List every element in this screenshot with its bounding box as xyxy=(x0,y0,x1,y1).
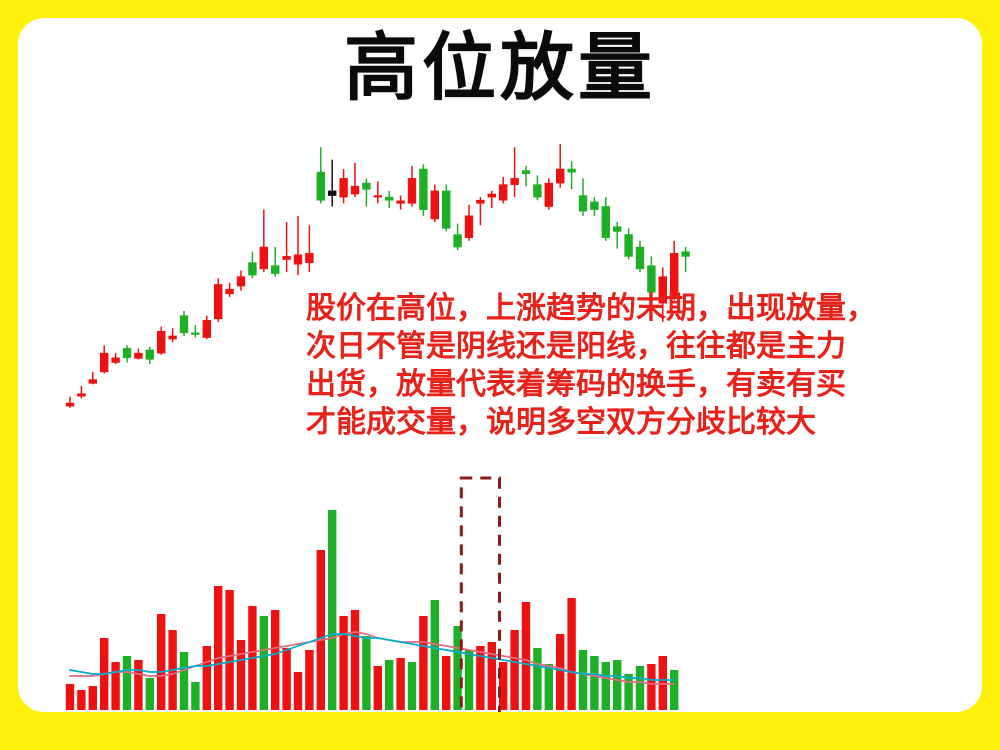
annotation-line-4: 才能成交量，说明多空双方分歧比较大 xyxy=(306,404,954,442)
poster-frame: 高位放量 股价在高位，上涨趋势的末期，出现放量， 次日不管是阴线还是阳线，往往都… xyxy=(0,0,1000,750)
annotation-line-1: 股价在高位，上涨趋势的末期，出现放量， xyxy=(306,290,954,328)
chart-canvas: 高位放量 股价在高位，上涨趋势的末期，出现放量， 次日不管是阴线还是阳线，往往都… xyxy=(18,18,982,712)
annotation-text: 股价在高位，上涨趋势的末期，出现放量， 次日不管是阴线还是阳线，往往都是主力 出… xyxy=(306,290,954,442)
annotation-line-2: 次日不管是阴线还是阳线，往往都是主力 xyxy=(306,328,954,366)
annotation-line-3: 出货，放量代表着筹码的换手，有卖有买 xyxy=(306,366,954,404)
watermark: 今日头条 xyxy=(844,674,976,711)
page-title: 高位放量 xyxy=(18,26,982,110)
volume-series xyxy=(66,510,679,710)
